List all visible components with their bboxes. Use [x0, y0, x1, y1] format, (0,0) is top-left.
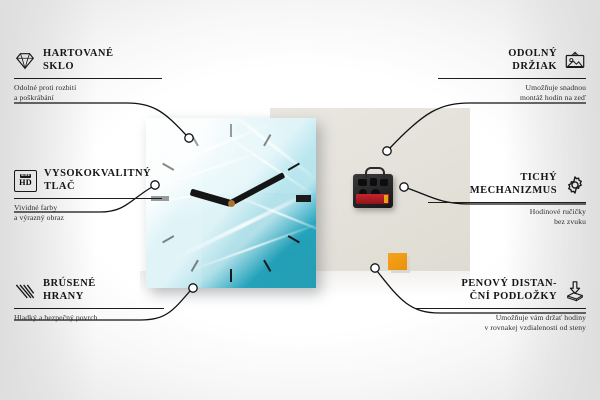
- feature-sub-line2: bez zvuku: [554, 217, 586, 226]
- mechanism-battery: [356, 194, 389, 204]
- feature-title-line1: BRÚSENÉ: [43, 278, 96, 289]
- clock-center-pin: [228, 200, 235, 207]
- feature-sub-line2: v rovnakej vzdialenosti od steny: [485, 323, 586, 332]
- divider: [14, 78, 162, 79]
- product-photo: [140, 108, 470, 291]
- feature-sub-line1: Hladký a bezpečný povrch: [14, 313, 98, 322]
- diagonal-lines-icon: [14, 280, 36, 302]
- feature-title-line2: TLAČ: [44, 181, 75, 192]
- feature-title-line1: VYSOKOKVALITNÝ: [44, 168, 151, 179]
- feature-sub-line1: Umožňuje vám držať hodiny: [496, 313, 586, 322]
- feature-sub-line2: montáž hodin na zeď: [520, 93, 586, 102]
- feature-title-line1: PENOVÝ DISTAN-: [461, 278, 557, 289]
- badge-hd-label: HD: [19, 179, 32, 187]
- arrow-onto-pad-icon: [564, 280, 586, 302]
- divider: [14, 308, 164, 309]
- gear-icon: [564, 174, 586, 196]
- feature-title-line2: HRANY: [43, 291, 84, 302]
- feature-sub-line2: a výrazný obraz: [14, 213, 64, 222]
- clock-face: [146, 118, 316, 288]
- feature-title-line1: TICHÝ: [520, 172, 557, 183]
- battery-terminal: [384, 195, 388, 203]
- foam-distance-pad: [388, 253, 407, 270]
- divider: [416, 308, 586, 309]
- feature-durable-hanger: ODOLNÝ DRŽIAK Umožňuje snadnou montáž ho…: [438, 48, 586, 103]
- mechanism-hook: [365, 167, 385, 178]
- feature-sub-line1: Umožňuje snadnou: [526, 83, 586, 92]
- feature-sub-line1: Hodinové ručičky: [530, 207, 586, 216]
- feature-title-line2: SKLO: [43, 61, 74, 72]
- picture-hanger-icon: [564, 50, 586, 72]
- feature-title-line1: HARTOVANÉ: [43, 48, 113, 59]
- ultra-hd-badge-icon: ultra HD: [14, 170, 37, 192]
- feature-sub-line1: Odolné proti rozbití: [14, 83, 76, 92]
- divider: [438, 78, 586, 79]
- feature-sub-line1: Vividné farby: [14, 203, 57, 212]
- diamond-icon: [14, 50, 36, 72]
- feature-foam-spacers: PENOVÝ DISTAN- ČNÍ PODLOŽKY Umožňuje vám…: [416, 278, 586, 333]
- wall-clock: [146, 118, 316, 288]
- divider: [428, 202, 586, 203]
- feature-hardened-glass: HARTOVANÉ SKLO Odolné proti rozbití a po…: [14, 48, 162, 103]
- feature-title-line2: MECHANIZMUS: [470, 185, 557, 196]
- feature-silent-mechanism: TICHÝ MECHANIZMUS Hodinové ručičky bez z…: [428, 172, 586, 227]
- infographic-canvas: HARTOVANÉ SKLO Odolné proti rozbití a po…: [0, 0, 600, 400]
- feature-title-line2: ČNÍ PODLOŽKY: [470, 291, 557, 302]
- feature-sub-line2: a poškrábání: [14, 93, 54, 102]
- feature-high-quality-print: ultra HD VYSOKOKVALITNÝ TLAČ Vividné far…: [14, 168, 162, 223]
- divider: [14, 198, 162, 199]
- feature-title-line2: DRŽIAK: [512, 61, 557, 72]
- feature-title-line1: ODOLNÝ: [508, 48, 557, 59]
- clock-mechanism: [353, 174, 393, 208]
- feature-ground-edges: BRÚSENÉ HRANY Hladký a bezpečný povrch: [14, 278, 164, 323]
